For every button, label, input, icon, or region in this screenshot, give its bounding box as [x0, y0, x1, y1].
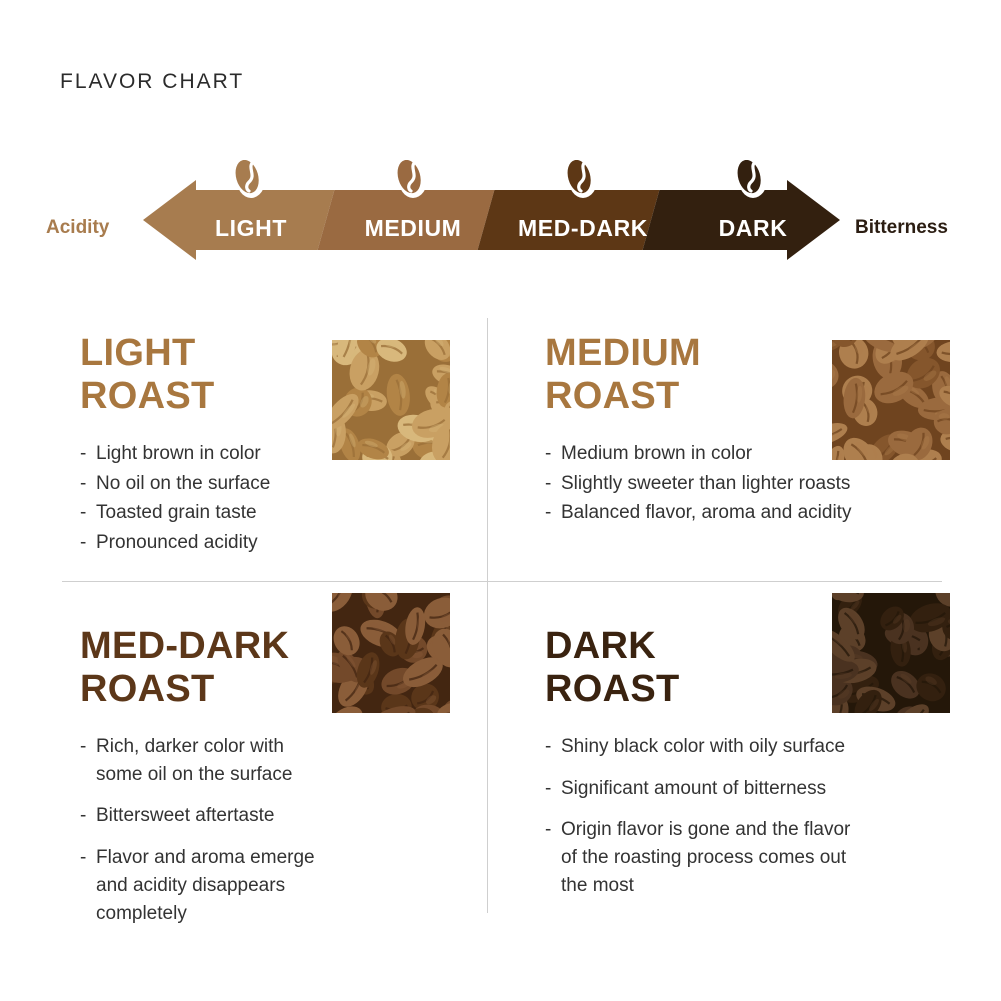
bullet-dash: -: [545, 440, 551, 468]
bullet-text: Light brown in color: [96, 443, 261, 464]
page-title: FLAVOR CHART: [60, 70, 244, 94]
list-item: -Origin flavor is gone and the flavor of…: [545, 816, 975, 899]
roast-heading-med-dark: MED-DARK ROAST: [80, 625, 480, 711]
list-item: -Bittersweet aftertaste: [80, 802, 480, 830]
bullet-dash: -: [545, 733, 551, 761]
scale-label-dark: DARK: [719, 215, 788, 242]
bullet-text: Origin flavor is gone and the flavor of …: [561, 819, 850, 895]
bullet-dash: -: [80, 470, 86, 498]
roast-bullets-dark: -Shiny black color with oily surface-Sig…: [545, 733, 975, 900]
list-item: -Rich, darker color with some oil on the…: [80, 733, 480, 788]
bullet-text: Balanced flavor, aroma and acidity: [561, 502, 851, 523]
bullet-text: Pronounced acidity: [96, 532, 258, 553]
roast-card-dark: DARK ROAST -Shiny black color with oily …: [545, 625, 975, 914]
roast-heading-medium: MEDIUM ROAST: [545, 332, 975, 418]
scale-label-med-dark: MED-DARK: [518, 215, 648, 242]
bullet-dash: -: [80, 802, 86, 830]
roast-bullets-med-dark: -Rich, darker color with some oil on the…: [80, 733, 480, 927]
bullet-dash: -: [545, 816, 551, 844]
roast-scale: Acidity Bitterness LIGHT MEDIUM MED-DARK…: [0, 160, 1001, 278]
scale-label-light: LIGHT: [215, 215, 287, 242]
bullet-dash: -: [80, 844, 86, 872]
bullet-text: Toasted grain taste: [96, 502, 257, 523]
bullet-text: Medium brown in color: [561, 443, 752, 464]
acidity-label: Acidity: [46, 217, 109, 239]
bullet-text: Slightly sweeter than lighter roasts: [561, 473, 850, 494]
list-item: -Slightly sweeter than lighter roasts: [545, 470, 975, 498]
bullet-text: Shiny black color with oily surface: [561, 736, 845, 757]
roast-grid: LIGHT ROAST -Light brown in color-No oil…: [0, 300, 1001, 1000]
roast-heading-dark: DARK ROAST: [545, 625, 975, 711]
bitterness-label: Bitterness: [855, 217, 948, 239]
bullet-dash: -: [545, 499, 551, 527]
bullet-dash: -: [80, 529, 86, 557]
roast-scale-arrow: [0, 160, 1001, 278]
list-item: -Significant amount of bitterness: [545, 775, 975, 803]
list-item: -Pronounced acidity: [80, 529, 480, 557]
bullet-dash: -: [80, 440, 86, 468]
roast-heading-light: LIGHT ROAST: [80, 332, 480, 418]
list-item: -Balanced flavor, aroma and acidity: [545, 499, 975, 527]
bullet-text: Bittersweet aftertaste: [96, 805, 274, 826]
bullet-dash: -: [545, 775, 551, 803]
list-item: -Toasted grain taste: [80, 499, 480, 527]
bullet-text: Flavor and aroma emerge and acidity disa…: [96, 847, 315, 923]
scale-label-medium: MEDIUM: [365, 215, 462, 242]
bullet-dash: -: [545, 470, 551, 498]
bullet-text: No oil on the surface: [96, 473, 270, 494]
grid-divider-horizontal: [62, 581, 942, 582]
list-item: -No oil on the surface: [80, 470, 480, 498]
bullet-text: Rich, darker color with some oil on the …: [96, 736, 292, 785]
grid-divider-vertical: [487, 318, 488, 913]
list-item: -Shiny black color with oily surface: [545, 733, 975, 761]
roast-card-med-dark: MED-DARK ROAST -Rich, darker color with …: [80, 625, 480, 941]
bullet-dash: -: [80, 733, 86, 761]
bullet-dash: -: [80, 499, 86, 527]
list-item: -Flavor and aroma emerge and acidity dis…: [80, 844, 480, 927]
bullet-text: Significant amount of bitterness: [561, 778, 826, 799]
